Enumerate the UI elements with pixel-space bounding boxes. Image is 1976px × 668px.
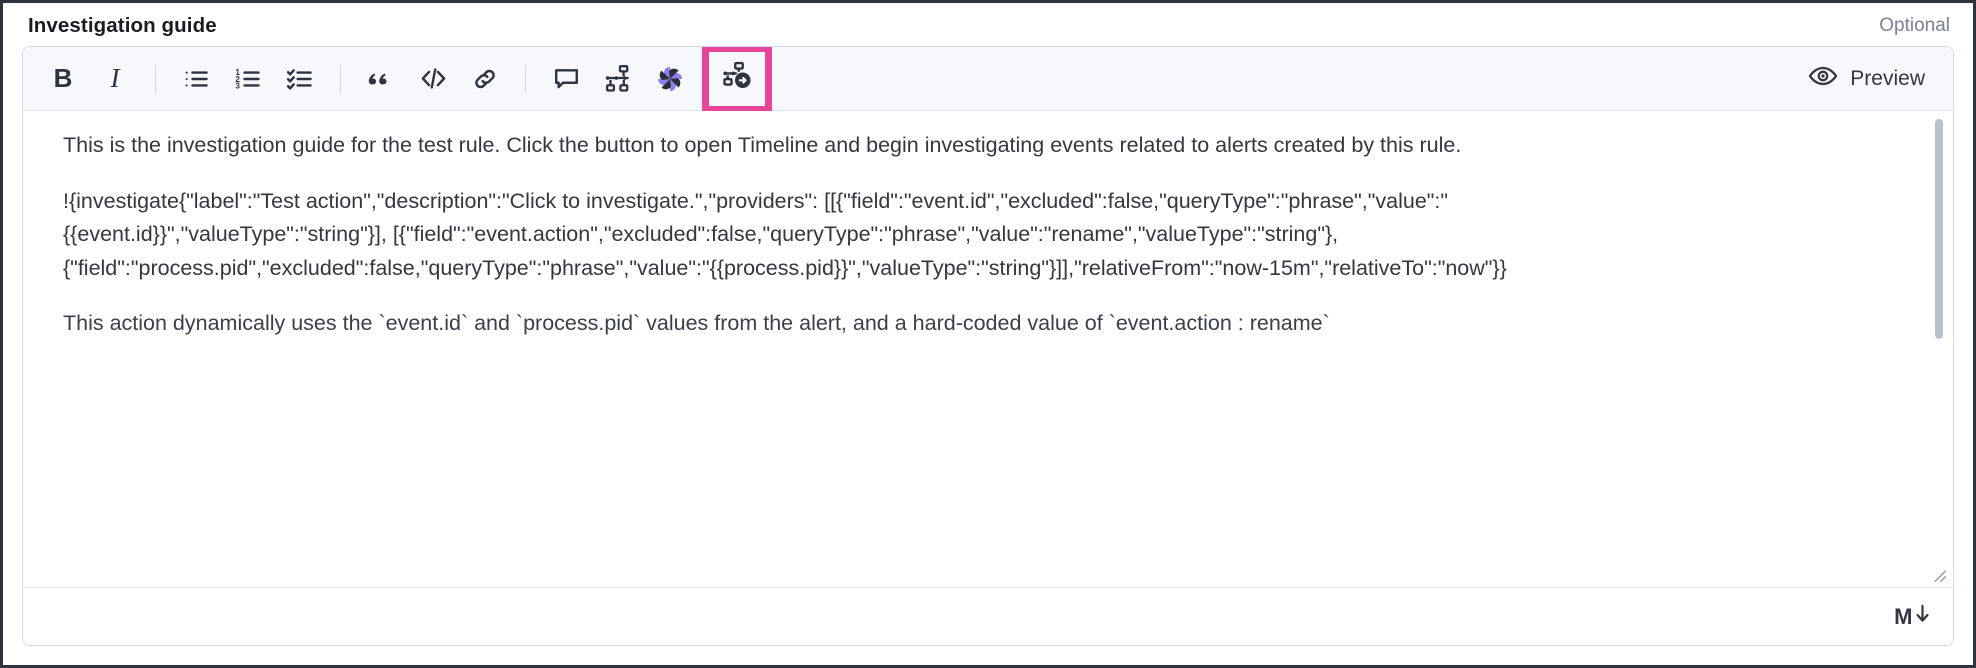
toolbar-divider bbox=[340, 65, 341, 93]
editor-toolbar: B I bbox=[23, 47, 1953, 111]
toolbar-divider bbox=[155, 65, 156, 93]
editor-textarea[interactable]: This is the investigation guide for the … bbox=[23, 111, 1953, 587]
markdown-help-button[interactable]: M bbox=[1894, 603, 1931, 630]
eye-icon bbox=[1808, 61, 1838, 96]
link-button[interactable] bbox=[459, 55, 511, 103]
markdown-editor: B I bbox=[22, 46, 1954, 646]
content-paragraph: This action dynamically uses the `event.… bbox=[63, 307, 1543, 341]
markdown-label: M bbox=[1894, 604, 1912, 630]
toolbar-divider bbox=[525, 65, 526, 93]
content-paragraph: !{investigate{"label":"Test action","des… bbox=[63, 185, 1623, 286]
ordered-list-icon: 1 2 3 bbox=[234, 65, 262, 93]
comment-bubble-icon bbox=[552, 64, 581, 93]
tooltip-button[interactable] bbox=[540, 55, 592, 103]
link-icon bbox=[471, 65, 499, 93]
optional-badge: Optional bbox=[1879, 15, 1950, 37]
content-paragraph: This is the investigation guide for the … bbox=[63, 129, 1543, 163]
elastic-logo-button[interactable] bbox=[644, 55, 696, 103]
svg-text:3: 3 bbox=[235, 81, 240, 90]
code-icon bbox=[419, 64, 448, 93]
preview-label: Preview bbox=[1850, 67, 1925, 91]
unordered-list-button[interactable] bbox=[170, 55, 222, 103]
markdown-icon bbox=[1914, 603, 1931, 630]
toolbar-buttons: B I bbox=[37, 46, 772, 113]
timeline-button[interactable] bbox=[592, 55, 644, 103]
resize-handle-icon[interactable] bbox=[1929, 565, 1947, 583]
preview-button[interactable]: Preview bbox=[1808, 61, 1939, 96]
elastic-logo-icon bbox=[655, 64, 685, 94]
page-title: Investigation guide bbox=[28, 14, 217, 38]
vertical-scrollbar[interactable] bbox=[1935, 119, 1943, 577]
checklist-button[interactable] bbox=[274, 55, 326, 103]
insert-investigation-action-button[interactable] bbox=[702, 46, 772, 113]
editor-footer: M bbox=[23, 587, 1953, 645]
italic-icon: I bbox=[111, 63, 120, 94]
editor-content[interactable]: This is the investigation guide for the … bbox=[23, 111, 1953, 587]
checklist-icon bbox=[286, 65, 314, 93]
bold-button[interactable]: B bbox=[37, 55, 89, 103]
quote-icon bbox=[367, 65, 395, 93]
scrollbar-thumb[interactable] bbox=[1935, 119, 1943, 339]
ordered-list-button[interactable]: 1 2 3 bbox=[222, 55, 274, 103]
code-button[interactable] bbox=[407, 55, 459, 103]
quote-button[interactable] bbox=[355, 55, 407, 103]
field-header: Investigation guide Optional bbox=[0, 0, 1976, 52]
timeline-nodes-icon bbox=[604, 64, 633, 93]
bold-icon: B bbox=[54, 63, 73, 94]
unordered-list-icon bbox=[182, 65, 210, 93]
italic-button[interactable]: I bbox=[89, 55, 141, 103]
timeline-investigate-icon bbox=[722, 61, 752, 96]
investigation-guide-field: Investigation guide Optional B I bbox=[0, 0, 1976, 668]
